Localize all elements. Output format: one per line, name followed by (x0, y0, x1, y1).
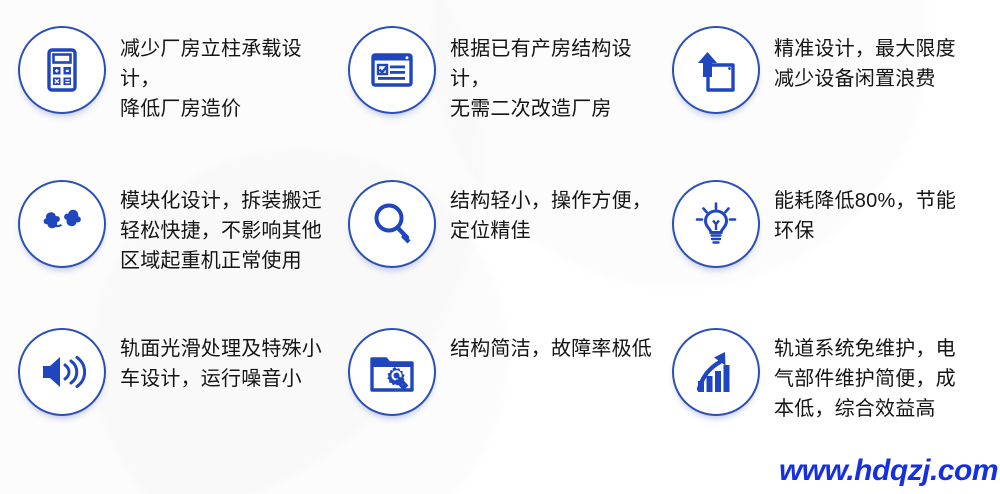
feature-text: 模块化设计，拆装搬迁 轻松快捷，不影响其他 区域起重机正常使用 (120, 180, 322, 276)
feature-text: 轨道系统免维护，电 气部件维护简便，成 本低，综合效益高 (774, 328, 956, 424)
feature-text: 结构简洁，故障率极低 (450, 328, 652, 364)
growth-chart-arrow-icon (672, 328, 760, 416)
feature-text: 结构轻小，操作方便， 定位精佳 (450, 180, 652, 246)
export-arrow-icon (672, 26, 760, 114)
feature-text: 轨面光滑处理及特殊小 车设计，运行噪音小 (120, 328, 322, 394)
folder-gear-wrench-icon (348, 328, 436, 416)
magnifier-icon (348, 180, 436, 268)
feature-item-2: 根据已有产房结构设计， 无需二次改造厂房 (330, 18, 660, 178)
feature-item-3: 精准设计，最大限度 减少设备闲置浪费 (660, 18, 1000, 178)
feature-text: 能耗降低80%，节能 环保 (774, 180, 956, 246)
feature-text: 精准设计，最大限度 减少设备闲置浪费 (774, 26, 956, 94)
puzzle-pieces-icon (18, 180, 106, 268)
feature-item-6: 能耗降低80%，节能 环保 (660, 178, 1000, 328)
feature-item-4: 模块化设计，拆装搬迁 轻松快捷，不影响其他 区域起重机正常使用 (0, 178, 330, 328)
feature-item-8: 结构简洁，故障率极低 (330, 328, 660, 478)
feature-text: 根据已有产房结构设计， 无需二次改造厂房 (450, 26, 660, 124)
calculator-icon (18, 26, 106, 114)
site-watermark: www.hdqzj.com (779, 454, 998, 488)
feature-item-7: 轨面光滑处理及特殊小 车设计，运行噪音小 (0, 328, 330, 478)
speaker-sound-icon (18, 328, 106, 416)
feature-item-5: 结构轻小，操作方便， 定位精佳 (330, 178, 660, 328)
feature-item-1: 减少厂房立柱承载设计， 降低厂房造价 (0, 18, 330, 178)
feature-text: 减少厂房立柱承载设计， 降低厂房造价 (120, 26, 330, 124)
checklist-document-icon (348, 26, 436, 114)
features-grid: 减少厂房立柱承载设计， 降低厂房造价 根据已有产房结构设计， 无需二次改造厂房 (0, 0, 1000, 460)
lightbulb-icon (672, 180, 760, 268)
